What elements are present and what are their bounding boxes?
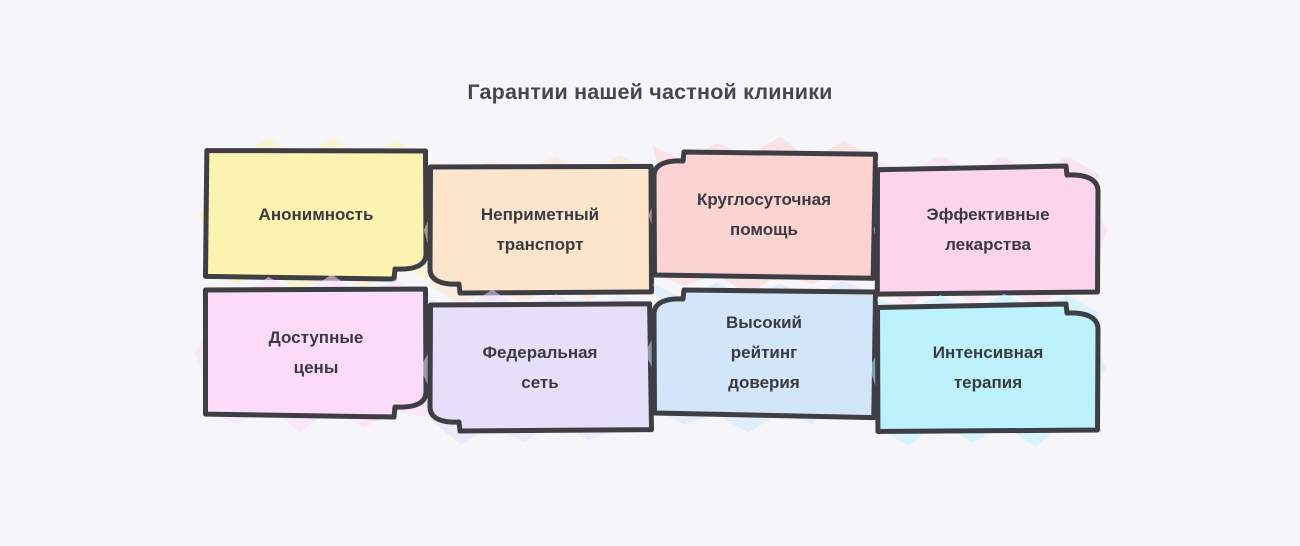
page-title: Гарантии нашей частной клиники <box>0 80 1300 105</box>
guarantee-card-anonymity[interactable]: Анонимность <box>205 150 427 280</box>
guarantee-card-round-the-clock-help[interactable]: Круглосуточная помощь <box>653 150 875 280</box>
card-label-high-trust-rating: Высокий рейтинг доверия <box>653 288 875 418</box>
guarantee-card-federal-network[interactable]: Федеральная сеть <box>429 303 651 433</box>
guarantee-card-affordable-prices[interactable]: Доступные цены <box>205 288 427 418</box>
card-label-anonymity: Анонимность <box>205 150 427 280</box>
guarantee-card-intensive-therapy[interactable]: Интенсивная терапия <box>877 303 1099 433</box>
card-label-federal-network: Федеральная сеть <box>429 303 651 433</box>
card-label-round-the-clock-help: Круглосуточная помощь <box>653 150 875 280</box>
card-label-effective-medicines: Эффективные лекарства <box>877 165 1099 295</box>
card-label-intensive-therapy: Интенсивная терапия <box>877 303 1099 433</box>
card-label-affordable-prices: Доступные цены <box>205 288 427 418</box>
infographic-root: Гарантии нашей частной клиники Анонимнос… <box>0 0 1300 546</box>
guarantee-card-discreet-transport[interactable]: Неприметный транспорт <box>429 165 651 295</box>
guarantee-card-effective-medicines[interactable]: Эффективные лекарства <box>877 165 1099 295</box>
card-label-discreet-transport: Неприметный транспорт <box>429 165 651 295</box>
guarantee-card-high-trust-rating[interactable]: Высокий рейтинг доверия <box>653 288 875 418</box>
guarantee-cards-grid: АнонимностьНеприметный транспортКруглосу… <box>205 140 1095 430</box>
